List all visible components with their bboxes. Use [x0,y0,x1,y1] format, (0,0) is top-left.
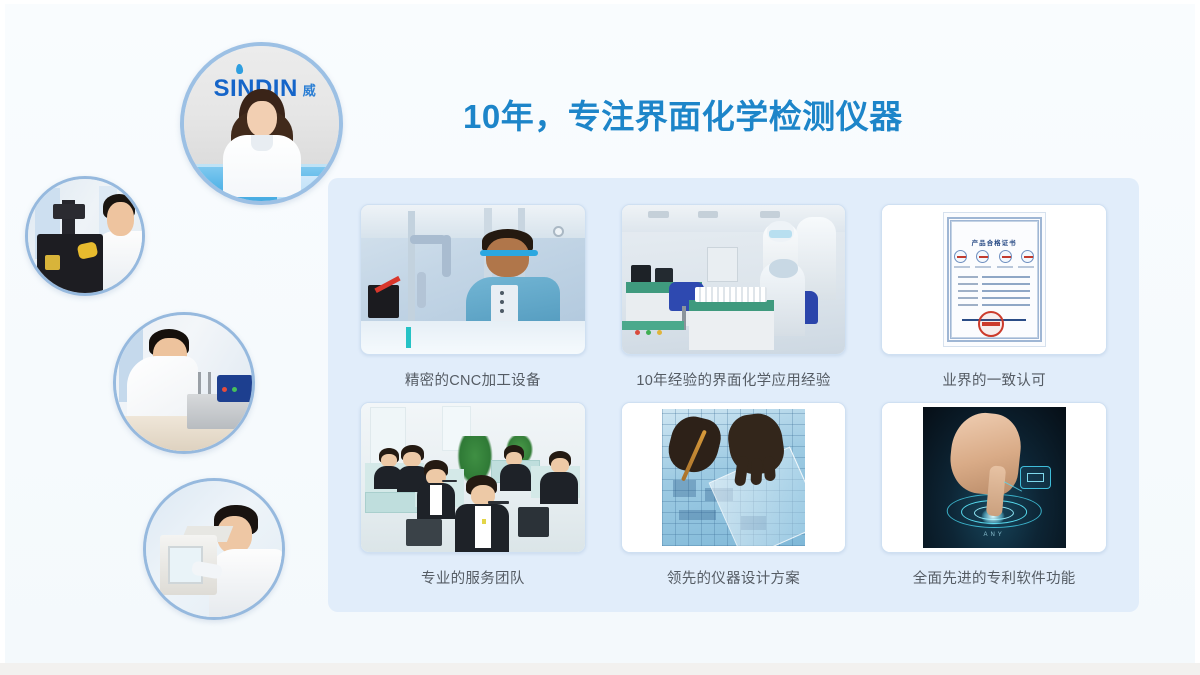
call-center-photo [360,402,586,553]
certificate-title: 产品合格证书 [944,237,1045,247]
logo-chinese: 威 [303,80,316,99]
receptionist-figure [231,89,293,182]
blueprint-design-photo [621,402,847,553]
slide-canvas: SINDIN 威 [0,0,1200,675]
hologram-panel-icon [1020,466,1051,488]
feature-caption: 领先的仪器设计方案 [667,567,800,588]
top-margin [0,0,1200,4]
features-panel: 精密的CNC加工设备 [328,178,1139,612]
red-seal-icon [978,311,1004,337]
reception-desk-photo: SINDIN 威 [180,42,343,205]
feature-card[interactable]: 专业的服务团队 [360,402,586,588]
hologram-watermark: ANY [983,532,1004,538]
feature-card[interactable]: 精密的CNC加工设备 [360,204,586,390]
feature-caption: 10年经验的界面化学应用经验 [636,369,830,390]
lab-cabinet-photo [143,478,285,620]
touch-interface-photo: ANY [881,402,1107,553]
right-margin [1195,0,1200,675]
certificate-photo: 产品合格证书 [881,204,1107,355]
cleanroom-lab-photo [621,204,847,355]
feature-caption: 全面先进的专利软件功能 [913,567,1076,588]
feature-card[interactable]: 领先的仪器设计方案 [621,402,847,588]
feature-card[interactable]: 10年经验的界面化学应用经验 [621,204,847,390]
left-margin [0,0,5,675]
feature-caption: 专业的服务团队 [421,567,525,588]
feature-card[interactable]: ANY 全面先进的专利软件功能 [881,402,1107,588]
page-title: 10年，专注界面化学检测仪器 [463,90,903,138]
engineer-testing-photo [113,312,255,454]
bottom-margin [0,663,1200,675]
cnc-machining-photo [360,204,586,355]
feature-caption: 业界的一致认可 [942,369,1046,390]
technician-instrument-photo [25,176,145,296]
feature-card[interactable]: 产品合格证书 [881,204,1107,390]
features-grid: 精密的CNC加工设备 [360,204,1107,586]
feature-caption: 精密的CNC加工设备 [405,369,541,390]
